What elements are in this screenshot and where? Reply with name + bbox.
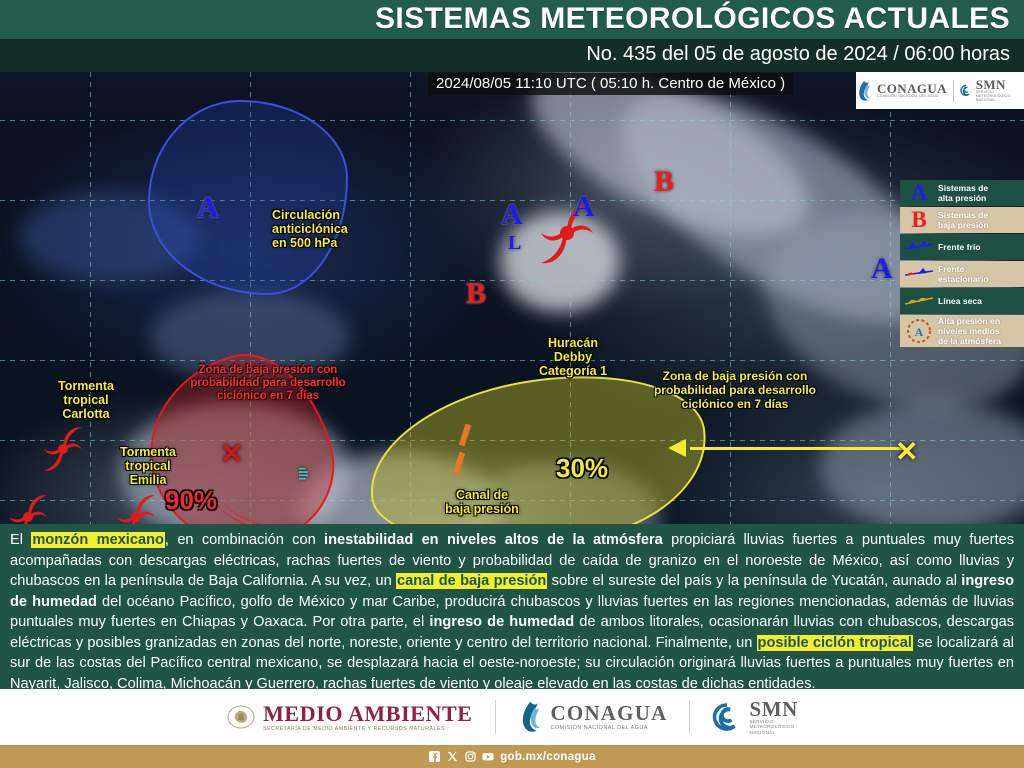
logo-divider: [953, 80, 954, 102]
cold-front-icon: [900, 240, 938, 254]
smn-footer-logo: SMN SERVICIO METEOROLÓGICO NACIONAL: [712, 699, 797, 735]
smn-logo-text: SMN: [976, 79, 1024, 90]
subheader-bar: No. 435 del 05 de agosto de 2024 / 06:00…: [0, 39, 1024, 72]
legend-label-high-pressure: Sistemas de alta presión: [938, 183, 991, 203]
low-pressure-symbol: B: [466, 277, 486, 311]
conagua-footer-title: CONAGUA: [551, 703, 668, 724]
red-zone-probability: 90%: [165, 485, 217, 516]
dry-line-marker: ıllı: [296, 467, 310, 480]
smn-spiral-icon: [712, 702, 742, 732]
weather-bulletin-page: SISTEMAS METEOROLÓGICOS ACTUALES No. 435…: [0, 0, 1024, 768]
conagua-logo-text: CONAGUA: [877, 83, 947, 94]
forecast-paragraph: El monzón mexicano, en combinación con i…: [0, 524, 1024, 689]
conagua-footer-subtitle: COMISIÓN NACIONAL DEL AGUA: [551, 725, 668, 731]
yellow-arrow-head: [668, 439, 686, 457]
conagua-footer-logo: CONAGUA COMISIÓN NACIONAL DEL AGUA: [518, 700, 668, 734]
mid-level-high-icon: A: [900, 318, 938, 344]
grid-line: [0, 120, 1024, 121]
medio-ambiente-subtitle: SECRETARÍA DE MEDIO AMBIENTE Y RECURSOS …: [263, 726, 472, 732]
smn-footer-title: SMN: [749, 699, 797, 719]
legend-label-low-pressure: Sistemas de baja presión: [938, 210, 992, 230]
low-pressure-channel-label: Canal de baja presión: [434, 488, 530, 516]
smn-footer-subtitle: SERVICIO METEOROLÓGICO NACIONAL: [749, 719, 797, 735]
anticyclonic-circulation-label: Circulación anticiclónica en 500 hPa: [272, 208, 392, 250]
instagram-icon[interactable]: [464, 751, 476, 763]
medio-ambiente-title: MEDIO AMBIENTE: [263, 703, 472, 725]
legend-item-cold-front[interactable]: Frente frío: [900, 234, 1024, 260]
legend-item-mid-level-high[interactable]: A Alta presión en niveles medios de la a…: [900, 315, 1024, 347]
tropical-storm-emilia-label: Tormenta tropical Emilia: [100, 445, 196, 487]
tropical-storm-emilia-symbol: [113, 490, 159, 524]
legend-item-dry-line[interactable]: Línea seca: [900, 288, 1024, 314]
legend-item-stationary-front[interactable]: Frente estacionario: [900, 261, 1024, 287]
social-bar: gob.mx/conagua: [0, 745, 1024, 768]
tropical-storm-carlotta-symbol: [40, 422, 86, 476]
hurricane-debby-label: Huracán Debby Categoría 1: [518, 336, 628, 378]
mexico-eagle-icon: [226, 702, 256, 732]
red-zone-center-marker: ✕: [220, 440, 243, 468]
legend-item-high-pressure[interactable]: A Sistemas de alta presión: [900, 180, 1024, 206]
top-logo-strip: CONAGUA COMISIÓN NACIONAL DEL AGUA SMN S…: [856, 72, 1024, 109]
footer-logos: MEDIO AMBIENTE SECRETARÍA DE MEDIO AMBIE…: [0, 689, 1024, 745]
legend-label-cold-front: Frente frío: [938, 242, 984, 252]
satellite-map[interactable]: ✕ ✕: [0, 72, 1024, 524]
x-twitter-icon[interactable]: [446, 751, 458, 763]
stationary-front-icon: [900, 267, 938, 281]
medio-ambiente-logo: MEDIO AMBIENTE SECRETARÍA DE MEDIO AMBIE…: [226, 702, 472, 732]
legend-item-low-pressure[interactable]: B Sistemas de baja presión: [900, 207, 1024, 233]
yellow-motion-arrow: [690, 447, 905, 450]
high-pressure-symbol: A: [871, 252, 893, 286]
high-pressure-symbol: A: [573, 190, 595, 224]
smn-spiral-icon: [960, 81, 972, 100]
legend-label-dry-line: Línea seca: [938, 296, 985, 306]
high-pressure-symbol-small: L: [508, 232, 521, 255]
conagua-logo-subtext: COMISIÓN NACIONAL DEL AGUA: [877, 94, 947, 98]
yellow-zone-probability: 30%: [556, 453, 608, 484]
conagua-wave-icon: [518, 700, 544, 734]
footer-divider: [495, 700, 496, 734]
header-bar: SISTEMAS METEOROLÓGICOS ACTUALES: [0, 0, 1024, 39]
dry-line-icon: [900, 294, 938, 308]
legend-label-stationary-front: Frente estacionario: [938, 264, 992, 284]
website-url[interactable]: gob.mx/conagua: [500, 751, 596, 763]
satellite-timestamp: 2024/08/05 11:10 UTC ( 05:10 h. Centro d…: [428, 73, 793, 95]
legend-panel: A Sistemas de alta presión B Sistemas de…: [900, 180, 1024, 348]
letter-b-icon: B: [900, 207, 938, 233]
red-zone-description: Zona de baja presión con probabilidad pa…: [178, 364, 358, 403]
yellow-zone-center-marker: ✕: [895, 438, 918, 466]
grid-line: [90, 72, 91, 524]
footer-divider: [689, 700, 690, 734]
page-title: SISTEMAS METEOROLÓGICOS ACTUALES: [375, 2, 1010, 36]
forecast-text: El monzón mexicano, en combinación con i…: [10, 532, 1014, 692]
yellow-zone-description: Zona de baja presión con probabilidad pa…: [630, 369, 840, 411]
tropical-storm-daniel-symbol: [5, 490, 51, 524]
conagua-logo: CONAGUA COMISIÓN NACIONAL DEL AGUA: [856, 80, 947, 102]
low-pressure-symbol: B: [654, 165, 674, 199]
youtube-icon[interactable]: [482, 751, 494, 763]
high-pressure-symbol: A: [501, 198, 523, 232]
facebook-icon[interactable]: [428, 751, 440, 763]
svg-text:A: A: [915, 325, 924, 339]
high-pressure-symbol: A: [197, 191, 219, 225]
letter-a-icon: A: [900, 180, 938, 206]
tropical-storm-carlotta-label: Tormenta tropical Carlotta: [38, 379, 134, 421]
grid-line: [0, 360, 1024, 361]
bulletin-number: No. 435 del 05 de agosto de 2024 / 06:00…: [586, 43, 1010, 66]
smn-logo: SMN SERVICIO METEOROLÓGICO NACIONAL: [960, 79, 1024, 102]
legend-label-mid-level-high: Alta presión en niveles medios de la atm…: [938, 316, 1004, 346]
conagua-wave-icon: [856, 80, 873, 102]
